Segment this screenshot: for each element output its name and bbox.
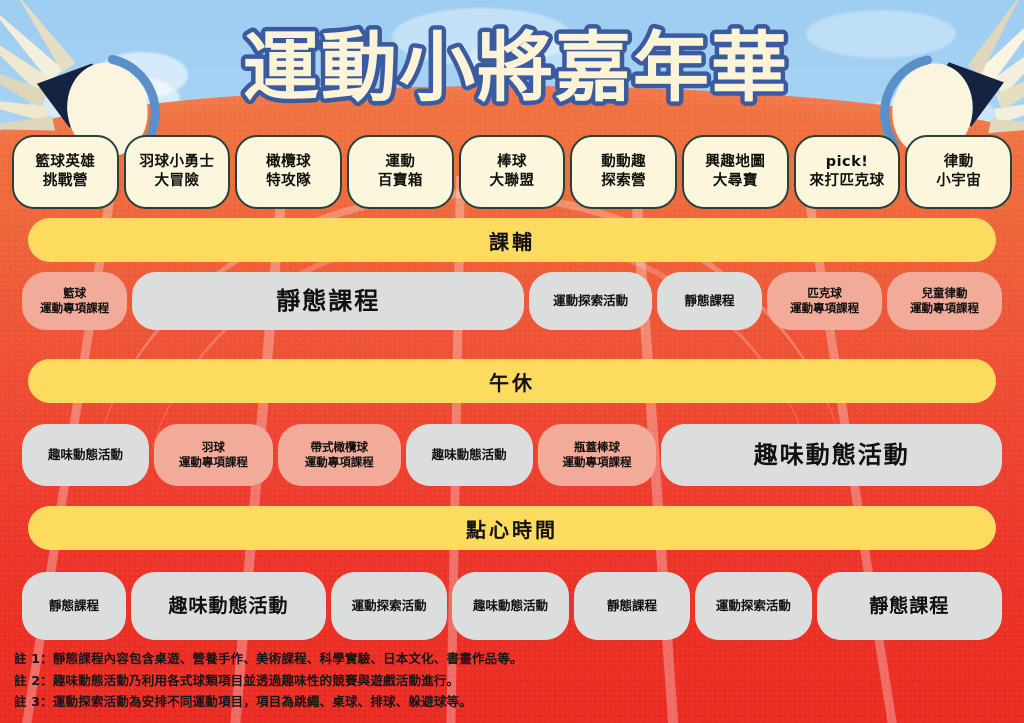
activity-pill[interactable]: 趣味動態活動 [661, 424, 1002, 486]
activity-pill-line1: 靜態課程 [685, 294, 735, 308]
activity-pill[interactable]: 帶式橄欖球運動專項課程 [278, 424, 401, 486]
course-card-line2: 特攻隊 [266, 174, 311, 189]
activity-pill[interactable]: 兒童律動運動專項課程 [887, 272, 1002, 330]
course-card-line1: 興趣地圖 [705, 155, 765, 170]
course-card-line2: 大尋寶 [713, 174, 758, 189]
activity-pill-line2: 運動專項課程 [910, 302, 979, 315]
course-card-line1: 棒球 [497, 155, 527, 170]
activity-pill-line2: 運動專項課程 [40, 302, 109, 315]
poster-canvas: 運動小將嘉年華 籃球英雄挑戰營羽球小勇士大冒險橄欖球特攻隊運動百寶箱棒球大聯盟動… [0, 0, 1024, 723]
course-card-line2: 探索營 [601, 174, 646, 189]
activity-pill-line2: 運動專項課程 [790, 302, 859, 315]
course-card-line1: 橄欖球 [266, 155, 311, 170]
activity-pill-line1: 兒童律動 [922, 287, 968, 300]
activity-pill-line1: 靜態課程 [607, 599, 657, 613]
activity-pill-line2: 運動專項課程 [179, 456, 248, 469]
activity-pill-line1: 羽球 [202, 441, 225, 454]
activity-row-morning: 籃球運動專項課程靜態課程運動探索活動靜態課程匹克球運動專項課程兒童律動運動專項課… [22, 272, 1002, 330]
activity-pill-line1: 帶式橄欖球 [310, 441, 368, 454]
course-card-row: 籃球英雄挑戰營羽球小勇士大冒險橄欖球特攻隊運動百寶箱棒球大聯盟動動趣探索營興趣地… [12, 135, 1012, 209]
activity-pill-line1: 匹克球 [807, 287, 842, 300]
course-card-line2: 小宇宙 [936, 174, 981, 189]
course-card[interactable]: 棒球大聯盟 [459, 135, 566, 209]
course-card-line2: 挑戰營 [43, 174, 88, 189]
activity-pill[interactable]: 趣味動態活動 [22, 424, 149, 486]
activity-pill[interactable]: 靜態課程 [574, 572, 690, 640]
activity-pill-line1: 運動探索活動 [352, 599, 427, 613]
course-card-line2: 百寶箱 [378, 174, 423, 189]
activity-pill[interactable]: 靜態課程 [817, 572, 1002, 640]
course-card[interactable]: pick!來打匹克球 [794, 135, 901, 209]
footnote-item: 註 3：運動探索活動為安排不同運動項目，項目為跳繩、桌球、排球、躲避球等。 [14, 691, 874, 713]
activity-pill[interactable]: 匹克球運動專項課程 [767, 272, 882, 330]
course-card-line2: 來打匹克球 [810, 174, 885, 189]
activity-pill-line1: 趣味動態活動 [473, 599, 548, 613]
activity-pill-line1: 靜態課程 [869, 596, 949, 617]
activity-pill-line1: 趣味動態活動 [168, 596, 288, 617]
activity-pill-line1: 靜態課程 [276, 288, 380, 314]
course-card[interactable]: 律動小宇宙 [905, 135, 1012, 209]
activity-pill[interactable]: 靜態課程 [657, 272, 762, 330]
course-card-line1: 動動趣 [601, 155, 646, 170]
activity-pill[interactable]: 羽球運動專項課程 [154, 424, 273, 486]
activity-pill[interactable]: 趣味動態活動 [131, 572, 326, 640]
course-card[interactable]: 興趣地圖大尋寶 [682, 135, 789, 209]
activity-pill[interactable]: 籃球運動專項課程 [22, 272, 127, 330]
activity-row-afternoon: 靜態課程趣味動態活動運動探索活動趣味動態活動靜態課程運動探索活動靜態課程 [22, 572, 1002, 640]
course-card-line1: 羽球小勇士 [140, 155, 215, 170]
course-card-line1: 運動 [385, 155, 415, 170]
course-card-line1: 籃球英雄 [35, 155, 95, 170]
activity-pill[interactable]: 靜態課程 [22, 572, 126, 640]
activity-pill-line1: 籃球 [63, 287, 86, 300]
section-band-label: 課輔 [489, 226, 535, 255]
course-card-line2: 大冒險 [155, 174, 200, 189]
footnote-list: 註 1：靜態課程內容包含桌遊、營養手作、美術課程、科學實驗、日本文化、書畫作品等… [14, 648, 874, 713]
activity-pill[interactable]: 靜態課程 [132, 272, 524, 330]
activity-pill-line1: 靜態課程 [49, 599, 99, 613]
activity-pill[interactable]: 瓶蓋棒球運動專項課程 [538, 424, 657, 486]
activity-pill-line1: 瓶蓋棒球 [574, 441, 620, 454]
activity-row-noon: 趣味動態活動羽球運動專項課程帶式橄欖球運動專項課程趣味動態活動瓶蓋棒球運動專項課… [22, 424, 1002, 486]
activity-pill[interactable]: 運動探索活動 [331, 572, 447, 640]
course-card-line1: 律動 [944, 155, 974, 170]
activity-pill[interactable]: 運動探索活動 [529, 272, 652, 330]
footnote-item: 註 2：趣味動態活動乃利用各式球類項目並透過趣味性的競賽與遊戲活動進行。 [14, 670, 874, 692]
activity-pill-line1: 運動探索活動 [553, 294, 628, 308]
course-card[interactable]: 羽球小勇士大冒險 [124, 135, 231, 209]
activity-pill[interactable]: 趣味動態活動 [406, 424, 533, 486]
section-band-label: 點心時間 [466, 514, 558, 543]
activity-pill[interactable]: 運動探索活動 [695, 572, 811, 640]
course-card[interactable]: 動動趣探索營 [570, 135, 677, 209]
activity-pill-line2: 運動專項課程 [305, 456, 374, 469]
section-band-wuxiu: 午休 [28, 359, 996, 403]
activity-pill-line1: 運動探索活動 [716, 599, 791, 613]
section-band-label: 午休 [489, 367, 535, 396]
course-card[interactable]: 運動百寶箱 [347, 135, 454, 209]
course-card[interactable]: 籃球英雄挑戰營 [12, 135, 119, 209]
footnote-item: 註 1：靜態課程內容包含桌遊、營養手作、美術課程、科學實驗、日本文化、書畫作品等… [14, 648, 874, 670]
course-card-line2: 大聯盟 [490, 174, 535, 189]
activity-pill-line1: 趣味動態活動 [432, 448, 507, 462]
activity-pill-line1: 趣味動態活動 [48, 448, 123, 462]
section-band-kefu: 課輔 [28, 218, 996, 262]
activity-pill[interactable]: 趣味動態活動 [452, 572, 568, 640]
course-card[interactable]: 橄欖球特攻隊 [235, 135, 342, 209]
activity-pill-line1: 趣味動態活動 [754, 442, 910, 468]
activity-pill-line2: 運動專項課程 [563, 456, 632, 469]
course-card-line1: pick! [826, 155, 869, 170]
section-band-dianxin: 點心時間 [28, 506, 996, 550]
